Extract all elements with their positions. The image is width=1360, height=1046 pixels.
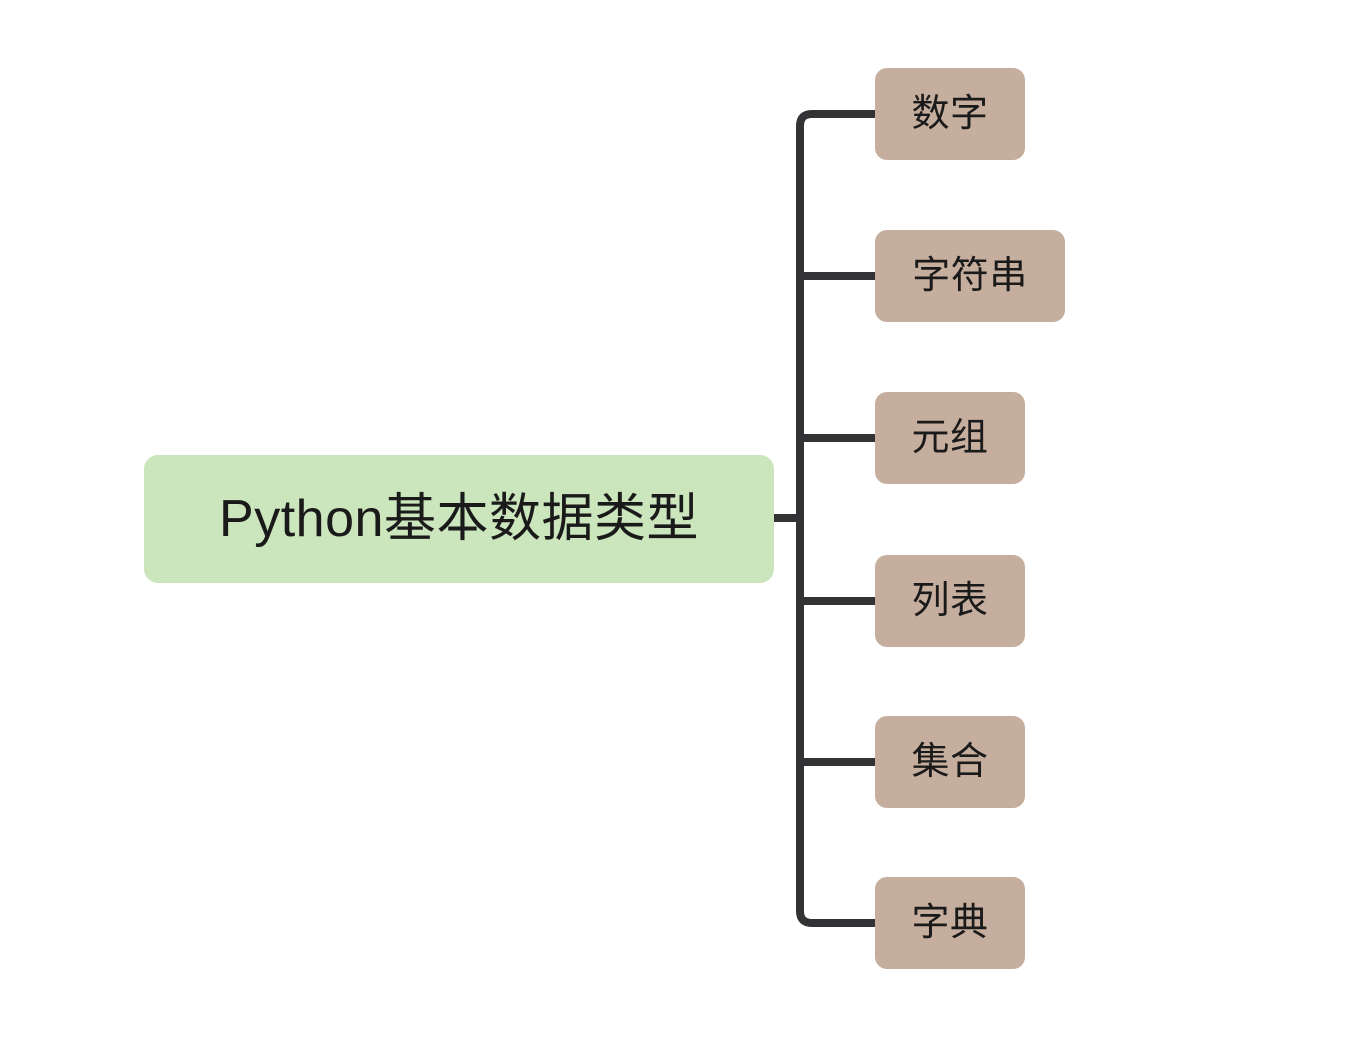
- child-node-list[interactable]: 列表: [875, 555, 1025, 647]
- child-node-label: 集合: [911, 743, 988, 781]
- child-node-label: 列表: [911, 582, 988, 620]
- child-node-number[interactable]: 数字: [875, 68, 1025, 160]
- root-node-label: Python基本数据类型: [219, 493, 699, 545]
- connector-branch-0: [800, 114, 875, 126]
- child-node-label: 元组: [911, 419, 988, 457]
- child-node-set[interactable]: 集合: [875, 716, 1025, 808]
- child-node-tuple[interactable]: 元组: [875, 392, 1025, 484]
- child-node-label: 字典: [911, 904, 988, 942]
- root-node[interactable]: Python基本数据类型: [144, 455, 774, 583]
- child-node-label: 字符串: [912, 257, 1028, 295]
- child-node-label: 数字: [911, 95, 988, 133]
- connector-branch-5: [800, 911, 875, 923]
- child-node-string[interactable]: 字符串: [875, 230, 1065, 322]
- child-node-dict[interactable]: 字典: [875, 877, 1025, 969]
- mindmap-canvas: Python基本数据类型 数字 字符串 元组 列表 集合 字典: [0, 0, 1360, 1046]
